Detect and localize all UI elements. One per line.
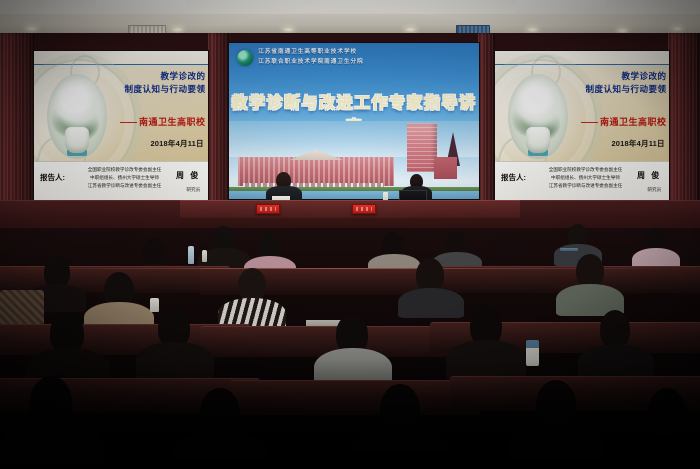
center-projection-screen: 江苏省南通卫生高等职业技术学校 江苏联合职业技术学院南通卫生分院 教学诊断与改进… [228,42,480,200]
audience-area [0,228,700,469]
lecture-hall-photo: 教学诊改的 制度认知与行动要领 —— 南通卫生高职校 2018年4月11日 报告… [0,0,700,469]
bench-row-1-center [200,268,440,295]
nameplate-right [352,204,376,214]
ceiling [0,0,700,34]
bench-row-3-center [230,380,480,415]
left-projection-screen: 教学诊改的 制度认知与行动要领 —— 南通卫生高职校 2018年4月11日 报告… [33,50,209,202]
right-projection-screen: 教学诊改的 制度认知与行动要领 —— 南通卫生高职校 2018年4月11日 报告… [494,50,670,202]
bench-row-1-right [420,266,700,293]
nameplate-left [256,204,280,214]
